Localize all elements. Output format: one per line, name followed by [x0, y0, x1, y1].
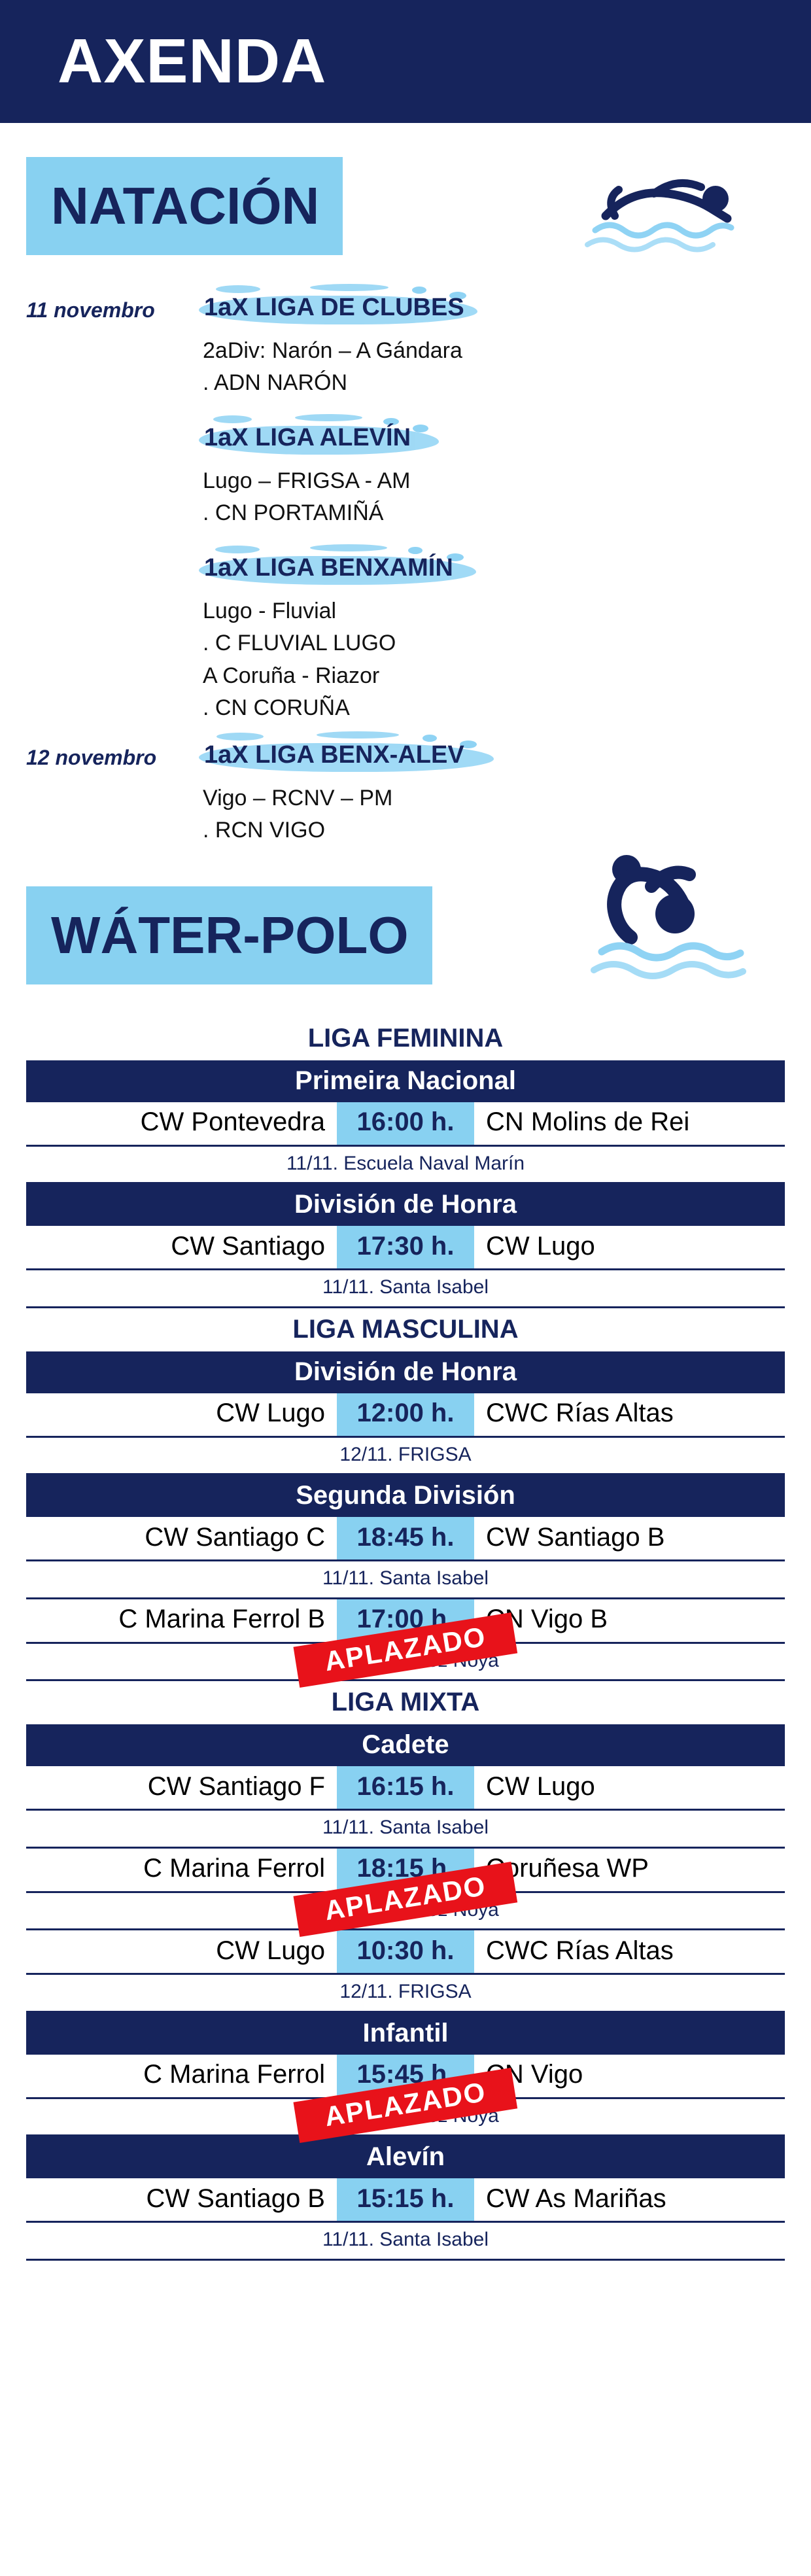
match-venue: 12/11. FRIGSA	[26, 1438, 785, 1476]
home-team: C Marina Ferrol B	[26, 1599, 337, 1642]
away-team: CN Vigo B	[474, 1599, 785, 1642]
match-time: 15:15 h.	[337, 2178, 474, 2221]
away-team: CW Santiago B	[474, 1517, 785, 1559]
swimming-league-heading: 1aX LIGA ALEVÍN	[203, 421, 417, 457]
waterpolo-banner-title: WÁTER-POLO	[51, 909, 409, 962]
match-block: C Marina Ferrol 15:45 h. CN Vigo 11/11. …	[26, 2055, 785, 2137]
away-team: CWC Rías Altas	[474, 1930, 785, 1973]
match-venue: 11/11. Santa Isabel	[26, 2223, 785, 2261]
table-row: CW Santiago B 15:15 h. CW As Mariñas	[26, 2178, 785, 2223]
match-time: 12:00 h.	[337, 1393, 474, 1436]
swimming-banner-title: NATACIÓN	[51, 180, 319, 232]
match-block: CW Pontevedra 16:00 h. CN Molins de Rei …	[26, 1102, 785, 1185]
league-title: LIGA FEMININA	[26, 1017, 785, 1060]
league-title: LIGA MIXTA	[26, 1681, 785, 1724]
division-title: División de Honra	[26, 1351, 785, 1393]
home-team: CW Lugo	[26, 1393, 337, 1436]
swimming-league-name: 1aX LIGA DE CLUBES	[204, 294, 464, 321]
swimming-event: 1aX LIGA BENX-ALEV Vigo – RCNV – PM . RC…	[203, 738, 785, 846]
waterpolo-player-icon	[589, 847, 759, 1001]
swimming-event: 1aX LIGA ALEVÍN Lugo – FRIGSA - AM . CN …	[203, 421, 785, 529]
away-team: CW Lugo	[474, 1226, 785, 1268]
match-block: CW Santiago C 18:45 h. CW Santiago B 11/…	[26, 1517, 785, 1599]
swimming-event-line: . ADN NARÓN	[203, 368, 785, 398]
match-time: 18:45 h.	[337, 1517, 474, 1559]
away-team: CW Lugo	[474, 1766, 785, 1809]
home-team: C Marina Ferrol	[26, 2055, 337, 2097]
swimming-event: 1aX LIGA BENXAMÍN Lugo - Fluvial . C FLU…	[203, 551, 785, 723]
match-venue: 11/11. Santa Isabel	[26, 1561, 785, 1599]
home-team: C Marina Ferrol	[26, 1849, 337, 1891]
home-team: CW Santiago C	[26, 1517, 337, 1559]
match-block: CW Santiago F 16:15 h. CW Lugo 11/11. Sa…	[26, 1766, 785, 1849]
table-row: CW Santiago 17:30 h. CW Lugo	[26, 1226, 785, 1270]
table-row: CW Santiago C 18:45 h. CW Santiago B	[26, 1517, 785, 1561]
waterpolo-tables: LIGA FEMININA Primeira Nacional CW Ponte…	[0, 1017, 811, 2300]
swimming-event-line: Lugo – FRIGSA - AM	[203, 466, 785, 496]
division-title: División de Honra	[26, 1184, 785, 1226]
swimming-league-heading: 1aX LIGA BENXAMÍN	[203, 551, 460, 587]
swimming-day: 11 novembro 1aX LIGA DE CLUBES 2aDiv: Na…	[26, 290, 785, 723]
poster-header: AXENDA	[0, 0, 811, 123]
waterpolo-banner-area: WÁTER-POLO	[0, 886, 811, 991]
swimming-day: 12 novembro 1aX LIGA BENX-ALEV Vigo – RC…	[26, 738, 785, 846]
swimming-league-heading: 1aX LIGA DE CLUBES	[203, 290, 471, 327]
match-venue: 12/11. FRIGSA	[26, 1975, 785, 2013]
match-block: CW Santiago 17:30 h. CW Lugo 11/11. Sant…	[26, 1226, 785, 1308]
swimming-event-line: Vigo – RCNV – PM	[203, 784, 785, 814]
match-block: CW Santiago B 15:15 h. CW As Mariñas 11/…	[26, 2178, 785, 2261]
match-venue: 11/11. Santa Isabel	[26, 1811, 785, 1849]
swimming-event-line: . RCN VIGO	[203, 816, 785, 846]
swimming-event-line: . C FLUVIAL LUGO	[203, 629, 785, 659]
table-row: CW Santiago F 16:15 h. CW Lugo	[26, 1766, 785, 1811]
away-team: CWC Rías Altas	[474, 1393, 785, 1436]
division-title: Segunda División	[26, 1475, 785, 1517]
division-title: Cadete	[26, 1724, 785, 1766]
match-block: CW Lugo 10:30 h. CWC Rías Altas 12/11. F…	[26, 1930, 785, 2013]
division-title: Primeira Nacional	[26, 1060, 785, 1102]
swimming-league-name: 1aX LIGA ALEVÍN	[204, 424, 411, 451]
away-team: CN Molins de Rei	[474, 1102, 785, 1145]
swimming-banner: NATACIÓN	[26, 157, 343, 255]
match-time: 16:00 h.	[337, 1102, 474, 1145]
table-row: CW Pontevedra 16:00 h. CN Molins de Rei	[26, 1102, 785, 1147]
home-team: CW Lugo	[26, 1930, 337, 1973]
match-block: CW Lugo 12:00 h. CWC Rías Altas 12/11. F…	[26, 1393, 785, 1476]
match-venue: 11/11. Escuela Naval Marín	[26, 1147, 785, 1185]
swimming-date: 12 novembro	[26, 738, 203, 770]
away-team: CW As Mariñas	[474, 2178, 785, 2221]
swimming-banner-area: NATACIÓN	[0, 157, 811, 262]
match-time: 10:30 h.	[337, 1930, 474, 1973]
swimming-event-line: Lugo - Fluvial	[203, 597, 785, 627]
page-title: AXENDA	[0, 30, 326, 93]
schedule-poster: AXENDA NATACIÓN 11 novembro	[0, 0, 811, 2576]
division-title: Infantil	[26, 2013, 785, 2055]
table-row: CW Lugo 12:00 h. CWC Rías Altas	[26, 1393, 785, 1438]
swimming-league-name: 1aX LIGA BENX-ALEV	[204, 741, 464, 769]
home-team: CW Santiago	[26, 1226, 337, 1268]
match-block: C Marina Ferrol 18:15 h. Coruñesa WP 11/…	[26, 1849, 785, 1931]
swimming-date: 11 novembro	[26, 290, 203, 322]
home-team: CW Santiago B	[26, 2178, 337, 2221]
home-team: CW Santiago F	[26, 1766, 337, 1809]
swimming-event-line: . CN CORUÑA	[203, 693, 785, 723]
match-time: 17:30 h.	[337, 1226, 474, 1268]
home-team: CW Pontevedra	[26, 1102, 337, 1145]
match-block: C Marina Ferrol B 17:00 h. CN Vigo B 11/…	[26, 1599, 785, 1682]
swimming-event: 1aX LIGA DE CLUBES 2aDiv: Narón – A Gánd…	[203, 290, 785, 398]
swimming-league-name: 1aX LIGA BENXAMÍN	[204, 554, 453, 582]
table-row: CW Lugo 10:30 h. CWC Rías Altas	[26, 1930, 785, 1975]
match-venue: 11/11. Santa Isabel	[26, 1270, 785, 1308]
away-team: Coruñesa WP	[474, 1849, 785, 1891]
division-title: Alevín	[26, 2136, 785, 2178]
swimming-event-line: 2aDiv: Narón – A Gándara	[203, 336, 785, 366]
away-team: CN Vigo	[474, 2055, 785, 2097]
waterpolo-banner: WÁTER-POLO	[26, 886, 432, 984]
swimming-event-line: . CN PORTAMIÑÁ	[203, 498, 785, 529]
league-title: LIGA MASCULINA	[26, 1308, 785, 1351]
swimming-league-heading: 1aX LIGA BENX-ALEV	[203, 738, 471, 775]
swimming-event-line: A Coruña - Riazor	[203, 661, 785, 691]
swimmer-icon	[576, 153, 752, 268]
match-time: 16:15 h.	[337, 1766, 474, 1809]
swimming-list: 11 novembro 1aX LIGA DE CLUBES 2aDiv: Na…	[0, 290, 811, 846]
